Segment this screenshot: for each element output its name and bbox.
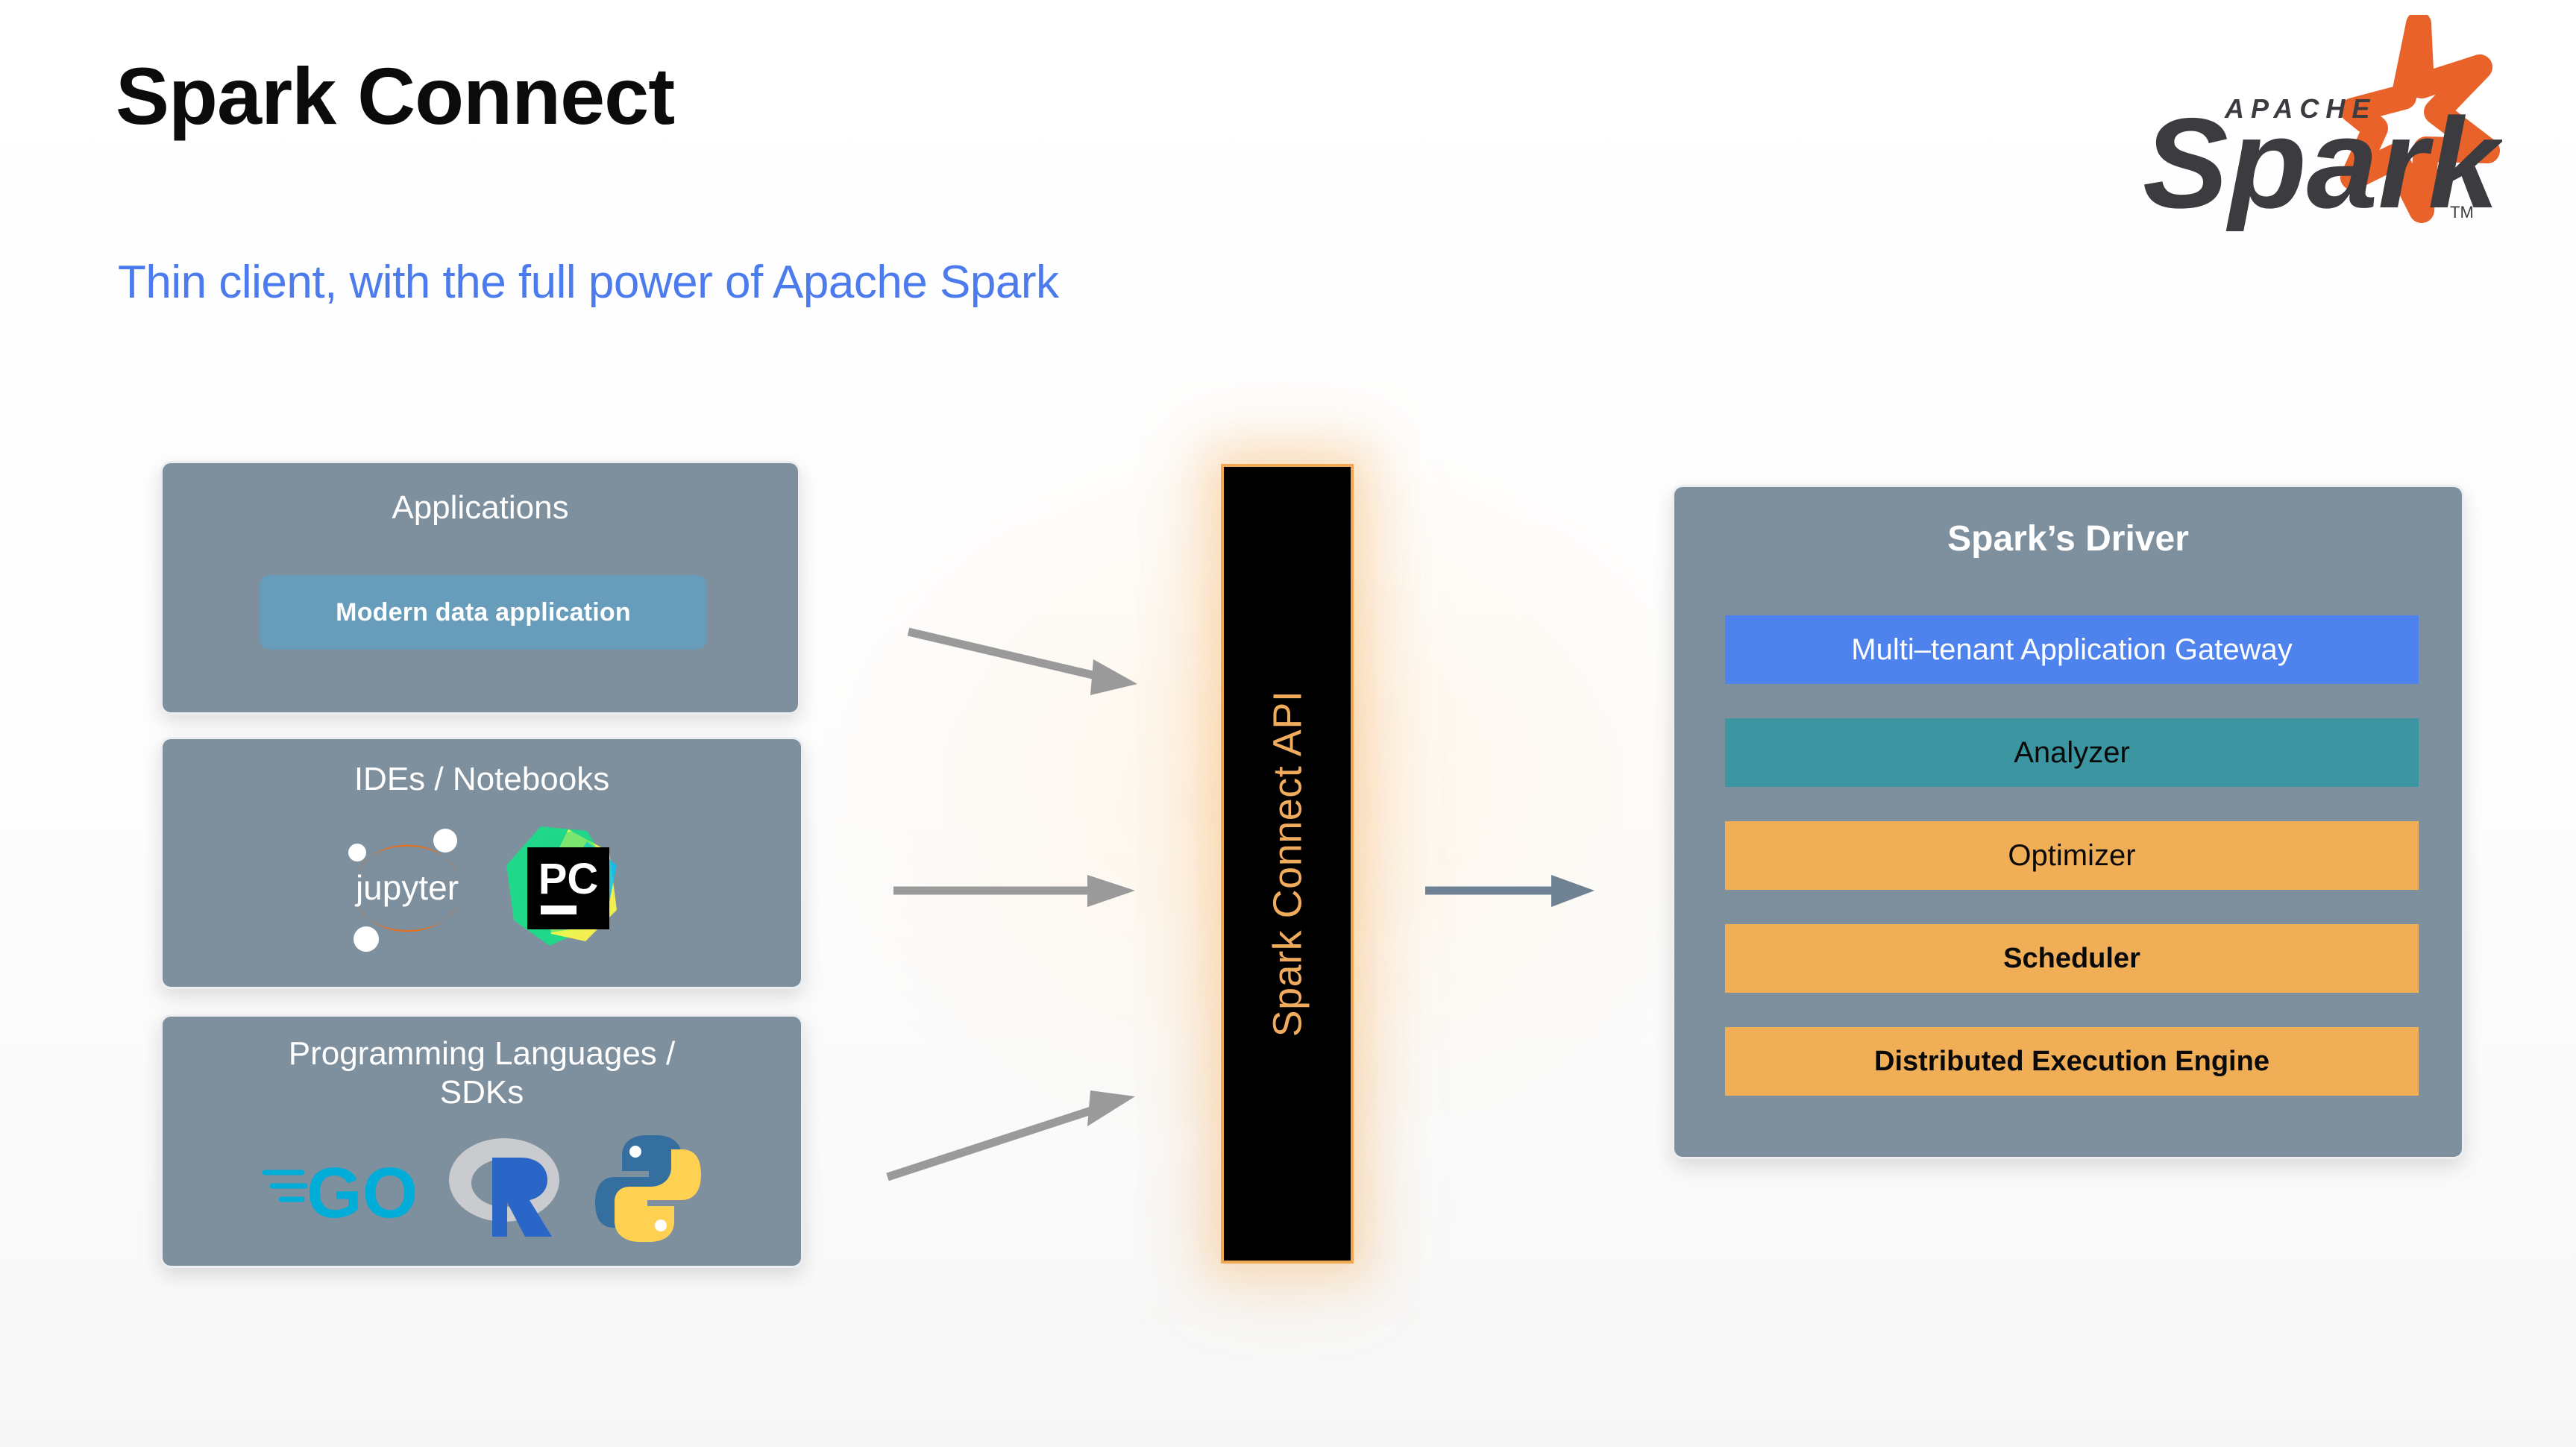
python-logo (592, 1131, 704, 1246)
card-languages-title-line2: SDKs (163, 1073, 801, 1112)
driver-row-optimizer[interactable]: Optimizer (1725, 821, 2419, 890)
arrow-api-to-driver (1425, 875, 1595, 907)
language-logo-row: GO (163, 1121, 801, 1255)
driver-row-gateway[interactable]: Multi–tenant Application Gateway (1725, 615, 2419, 684)
spark-connect-api-bar[interactable]: Spark Connect API (1221, 464, 1354, 1264)
card-sparks-driver[interactable]: Spark’s Driver Multi–tenant Application … (1672, 485, 2464, 1159)
page-title: Spark Connect (116, 56, 674, 136)
apache-spark-logo: Spark APACHE TM (2129, 15, 2502, 231)
card-programming-languages[interactable]: Programming Languages / SDKs GO (160, 1014, 803, 1268)
driver-row-scheduler[interactable]: Scheduler (1725, 924, 2419, 993)
trademark-mark: TM (2450, 203, 2474, 222)
go-logo: GO (260, 1140, 421, 1237)
pycharm-wordmark: PC (538, 855, 598, 903)
driver-row-analyzer[interactable]: Analyzer (1725, 718, 2419, 787)
slide-canvas: Spark Connect Thin client, with the full… (0, 0, 2576, 1447)
go-wordmark: GO (307, 1153, 418, 1233)
arrow-languages-to-api (888, 1090, 1135, 1177)
arrow-applications-to-api (908, 632, 1137, 695)
pycharm-underscore-icon (541, 905, 577, 914)
jupyter-wordmark: jupyter (354, 868, 458, 907)
chip-modern-data-application[interactable]: Modern data application (260, 575, 707, 650)
spark-connect-api-label: Spark Connect API (1264, 691, 1310, 1038)
card-applications-title: Applications (163, 489, 798, 527)
apache-superlabel: APACHE (2224, 93, 2376, 124)
driver-row-distributed-execution-engine[interactable]: Distributed Execution Engine (1725, 1027, 2419, 1096)
card-ides-notebooks[interactable]: IDEs / Notebooks jupyter (160, 737, 803, 989)
card-applications[interactable]: Applications Modern data application (160, 461, 800, 715)
card-languages-title-line1: Programming Languages / (163, 1035, 801, 1073)
ide-logo-row: jupyter PC (163, 812, 801, 961)
arrow-ides-to-api (893, 875, 1135, 907)
jupyter-logo: jupyter (336, 816, 478, 958)
sparks-driver-title: Spark’s Driver (1674, 518, 2462, 561)
card-ides-title: IDEs / Notebooks (163, 760, 801, 799)
pycharm-logo: PC (497, 822, 628, 952)
page-subtitle: Thin client, with the full power of Apac… (118, 260, 1058, 306)
r-logo (443, 1131, 570, 1246)
